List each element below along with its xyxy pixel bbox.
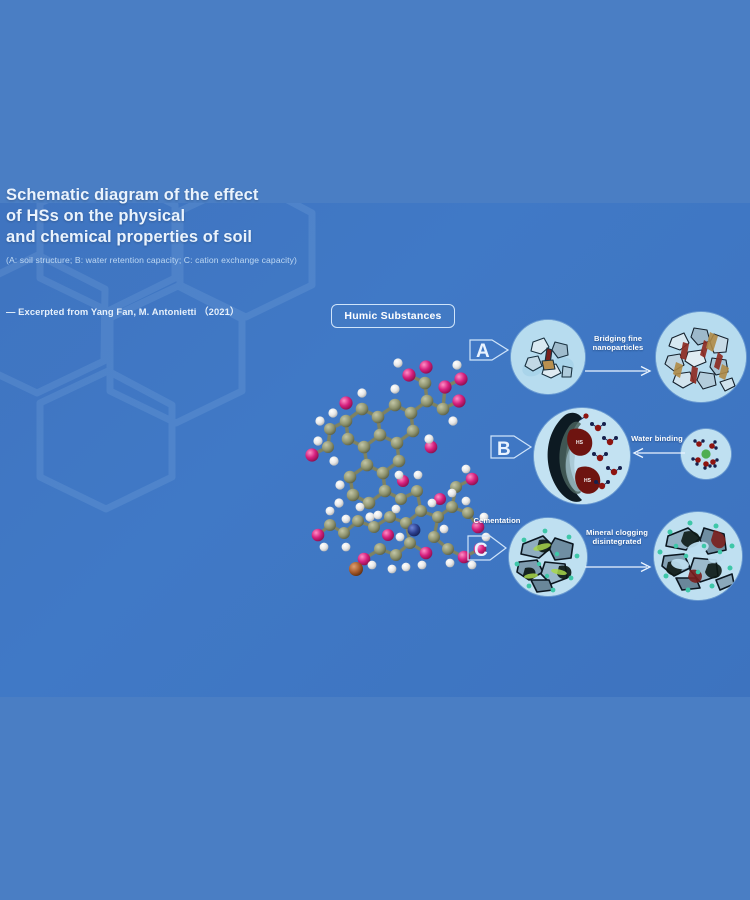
caption-c-line-2: disintegrated [593,537,642,546]
title-line-3: and chemical properties of soil [6,228,252,246]
marker-b-letter: B [497,439,511,460]
arrow-c-right [585,560,655,574]
node-a-before [511,320,585,394]
credit-attribution: — Excerpted from Yang Fan, M. Antonietti… [6,304,346,318]
text-block: Schematic diagram of the effect of HSs o… [6,185,346,318]
caption-b-process: Water binding [627,434,687,443]
marker-c: C [466,530,508,566]
title-line-2: of HSs on the physical [6,207,185,225]
caption-a-line-2: nanoparticles [593,343,644,352]
caption-c-process: Mineral clogging disintegrated [576,528,658,547]
nitrogen-atom [408,524,421,537]
arrow-a-right [585,364,655,378]
humic-substances-label: Humic Substances [331,304,455,328]
subtitle-legend: (A: soil structure; B: water retention c… [6,254,346,266]
caption-c-line-1: Mineral clogging [586,528,648,537]
metal-atom [349,562,363,576]
marker-a-letter: A [476,341,490,362]
letterbox-band-top [0,0,750,203]
humic-molecule-illustration [300,325,510,615]
humic-substances-label-text: Humic Substances [344,310,441,322]
caption-c-cementation: Cementation [466,516,528,525]
node-c-after [654,512,742,600]
marker-a: A [468,332,510,368]
caption-a-process: Bridging fine nanoparticles [580,334,656,353]
title-line-1: Schematic diagram of the effect [6,186,259,204]
marker-b: B [489,428,533,466]
page-title: Schematic diagram of the effect of HSs o… [6,185,346,248]
marker-c-letter: C [474,540,488,561]
node-b-before: HS HS [534,408,630,504]
poster-root: Schematic diagram of the effect of HSs o… [0,0,750,900]
caption-a-line-1: Bridging fine [594,334,642,343]
node-b-after [681,429,731,479]
letterbox-band-bottom [0,697,750,900]
node-a-after [656,312,746,402]
hs-glyph-1: HS [576,440,584,446]
arrow-b-left [631,446,685,460]
hs-glyph-2: HS [584,478,592,484]
